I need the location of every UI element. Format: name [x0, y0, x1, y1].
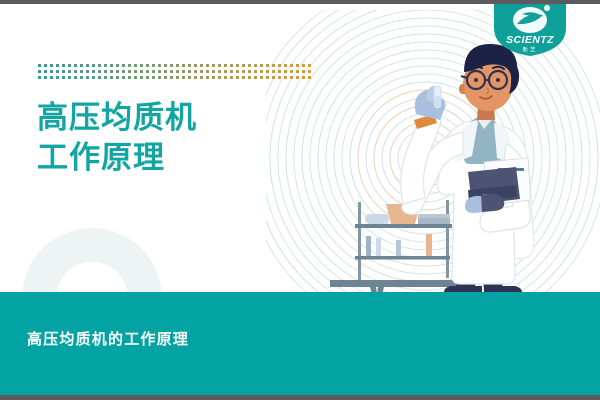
logo-sub-text: 新芝 — [522, 46, 537, 54]
dot-grid-dot — [182, 76, 185, 79]
dot-grid-dot — [68, 64, 71, 67]
dot-grid-dot — [278, 76, 281, 79]
dot-grid-dot — [200, 70, 203, 73]
dot-grid-dot — [170, 70, 173, 73]
dot-grid-dot — [224, 70, 227, 73]
dot-grid-dot — [134, 64, 137, 67]
dot-grid-dot — [86, 64, 89, 67]
dot-grid-dot — [176, 76, 179, 79]
dot-grid-dot — [50, 76, 53, 79]
dot-grid-dot — [260, 70, 263, 73]
dot-grid-dot — [272, 76, 275, 79]
dot-grid-dot — [140, 64, 143, 67]
dot-grid-dot — [266, 64, 269, 67]
dot-grid-dot — [38, 76, 41, 79]
dot-grid-dot — [242, 70, 245, 73]
dot-grid-dot — [254, 76, 257, 79]
dot-grid-dot — [158, 70, 161, 73]
dot-grid-dot — [110, 76, 113, 79]
dot-grid-dot — [80, 64, 83, 67]
dot-grid-dot — [164, 64, 167, 67]
dot-grid-dot — [86, 70, 89, 73]
dot-grid-dot — [248, 76, 251, 79]
dot-grid-dot — [218, 76, 221, 79]
dot-grid-dot — [146, 64, 149, 67]
dot-grid-dot — [38, 64, 41, 67]
dot-grid-dot — [146, 70, 149, 73]
dot-grid-row — [38, 76, 311, 79]
dot-grid-dot — [272, 64, 275, 67]
dot-grid-dot — [56, 76, 59, 79]
dot-grid-dot — [248, 70, 251, 73]
dot-grid-dot — [206, 76, 209, 79]
dot-grid-row — [38, 70, 311, 73]
dot-grid-dot — [50, 70, 53, 73]
dot-grid-dot — [62, 64, 65, 67]
dot-grid-dot — [164, 76, 167, 79]
dot-grid-dot — [290, 70, 293, 73]
dot-grid-dot — [104, 76, 107, 79]
dot-grid-dot — [44, 70, 47, 73]
dot-grid-dot — [98, 70, 101, 73]
slide-canvas: 高压均质机 工作原理 — [0, 0, 600, 400]
dot-grid-dot — [254, 64, 257, 67]
dot-grid-dot — [92, 76, 95, 79]
page-title-line1: 高压均质机 — [37, 100, 197, 135]
dot-grid-decor — [38, 64, 311, 79]
dot-grid-dot — [194, 70, 197, 73]
dot-grid-dot — [128, 76, 131, 79]
dot-grid-dot — [80, 76, 83, 79]
dot-grid-dot — [134, 70, 137, 73]
dot-grid-dot — [38, 70, 41, 73]
dot-grid-dot — [104, 64, 107, 67]
dot-grid-dot — [284, 70, 287, 73]
dot-grid-dot — [278, 64, 281, 67]
dot-grid-dot — [290, 76, 293, 79]
dot-grid-dot — [158, 64, 161, 67]
dot-grid-dot — [194, 64, 197, 67]
dot-grid-dot — [44, 64, 47, 67]
dot-grid-dot — [272, 70, 275, 73]
dot-grid-dot — [224, 76, 227, 79]
dot-grid-dot — [62, 70, 65, 73]
dot-grid-dot — [56, 70, 59, 73]
dot-grid-dot — [290, 64, 293, 67]
logo-brand-text: SCIENTZ — [506, 34, 554, 46]
dot-grid-dot — [62, 76, 65, 79]
page-title: 高压均质机 工作原理 — [37, 98, 197, 178]
dot-grid-dot — [284, 64, 287, 67]
dot-grid-dot — [248, 64, 251, 67]
dot-grid-dot — [224, 64, 227, 67]
dot-grid-dot — [176, 70, 179, 73]
dot-grid-dot — [152, 64, 155, 67]
dot-grid-dot — [260, 64, 263, 67]
dot-grid-dot — [176, 64, 179, 67]
page-title-line2: 工作原理 — [37, 138, 197, 178]
dot-grid-dot — [146, 76, 149, 79]
dot-grid-dot — [74, 76, 77, 79]
dot-grid-dot — [128, 64, 131, 67]
dot-grid-dot — [74, 64, 77, 67]
dot-grid-dot — [152, 76, 155, 79]
dot-grid-dot — [68, 76, 71, 79]
dot-grid-dot — [110, 70, 113, 73]
dot-grid-dot — [122, 76, 125, 79]
dot-grid-dot — [236, 70, 239, 73]
dot-grid-dot — [182, 70, 185, 73]
dot-grid-dot — [218, 64, 221, 67]
dot-grid-dot — [44, 76, 47, 79]
dot-grid-dot — [116, 70, 119, 73]
dot-grid-dot — [170, 64, 173, 67]
dot-grid-dot — [278, 70, 281, 73]
dot-grid-dot — [92, 64, 95, 67]
dot-grid-dot — [98, 76, 101, 79]
dot-grid-dot — [242, 64, 245, 67]
dot-grid-dot — [110, 64, 113, 67]
caption-bar: 高压均质机的工作原理 — [0, 292, 600, 395]
dot-grid-dot — [200, 64, 203, 67]
dot-grid-dot — [98, 64, 101, 67]
dot-grid-dot — [284, 76, 287, 79]
dot-grid-dot — [266, 70, 269, 73]
dot-grid-dot — [260, 76, 263, 79]
dot-grid-dot — [236, 76, 239, 79]
capture-bar-bottom — [0, 395, 600, 400]
dot-grid-dot — [218, 70, 221, 73]
dot-grid-dot — [122, 64, 125, 67]
dot-grid-dot — [212, 70, 215, 73]
dot-grid-dot — [254, 70, 257, 73]
capture-bar-top — [0, 0, 600, 4]
scientist-illustration — [300, 28, 600, 303]
dot-grid-dot — [92, 70, 95, 73]
dot-grid-dot — [266, 76, 269, 79]
dot-grid-dot — [164, 70, 167, 73]
dot-grid-dot — [158, 76, 161, 79]
dot-grid-dot — [152, 70, 155, 73]
dot-grid-dot — [134, 76, 137, 79]
dot-grid-dot — [194, 76, 197, 79]
dot-grid-dot — [212, 64, 215, 67]
dot-grid-dot — [74, 70, 77, 73]
dot-grid-dot — [188, 70, 191, 73]
caption-text: 高压均质机的工作原理 — [27, 328, 189, 349]
dot-grid-dot — [80, 70, 83, 73]
dot-grid-dot — [230, 70, 233, 73]
dot-grid-dot — [122, 70, 125, 73]
scientz-logo[interactable]: SCIENTZ 新芝 — [494, 0, 566, 56]
dot-grid-dot — [236, 64, 239, 67]
dot-grid-dot — [296, 70, 299, 73]
dot-grid-dot — [86, 76, 89, 79]
dot-grid-dot — [128, 70, 131, 73]
dot-grid-dot — [242, 76, 245, 79]
dot-grid-dot — [68, 70, 71, 73]
dot-grid-dot — [206, 70, 209, 73]
dot-grid-dot — [212, 76, 215, 79]
dot-grid-dot — [230, 76, 233, 79]
dot-grid-dot — [170, 76, 173, 79]
dot-grid-dot — [104, 70, 107, 73]
dot-grid-dot — [50, 64, 53, 67]
dot-grid-dot — [296, 64, 299, 67]
dot-grid-dot — [140, 76, 143, 79]
dot-grid-dot — [296, 76, 299, 79]
dot-grid-dot — [116, 64, 119, 67]
dot-grid-row — [38, 64, 311, 67]
dot-grid-dot — [200, 76, 203, 79]
dot-grid-dot — [188, 76, 191, 79]
dot-grid-dot — [182, 64, 185, 67]
dot-grid-dot — [116, 76, 119, 79]
dot-grid-dot — [56, 64, 59, 67]
dot-grid-dot — [188, 64, 191, 67]
dot-grid-dot — [140, 70, 143, 73]
dot-grid-dot — [206, 64, 209, 67]
dot-grid-dot — [230, 64, 233, 67]
